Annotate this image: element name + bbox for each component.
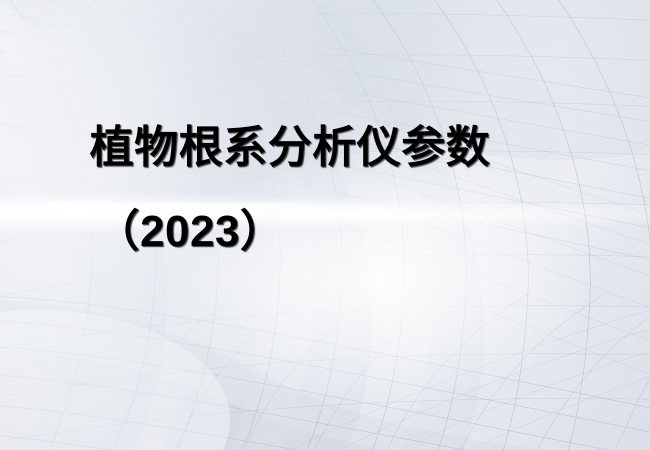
slide-title-line-1: 植物根系分析仪参数 — [0, 122, 580, 174]
title-block: 植物根系分析仪参数 （2023） — [0, 0, 650, 450]
slide-title-line-2: （2023） — [0, 206, 380, 258]
title-slide: 植物根系分析仪参数 （2023） — [0, 0, 650, 450]
